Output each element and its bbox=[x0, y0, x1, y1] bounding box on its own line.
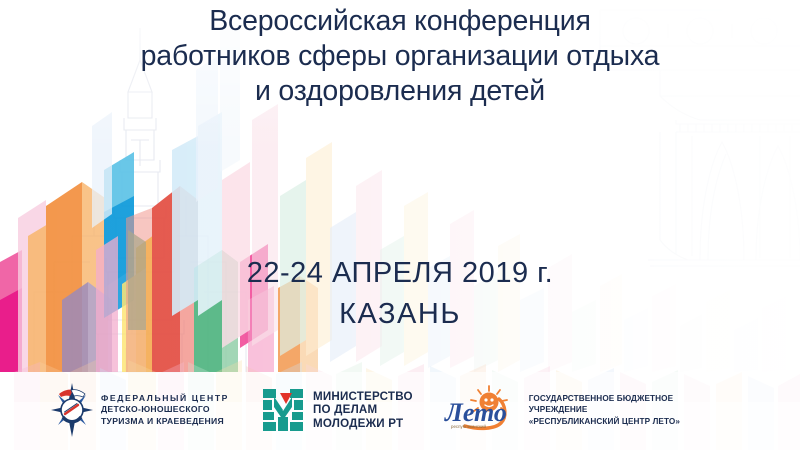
partner-logos: ФЕДЕРАЛЬНЫЙ ЦЕНТР ДЕТСКО-ЮНОШЕСКОГО ТУРИ… bbox=[0, 378, 800, 442]
logo-federal-center-text: ФЕДЕРАЛЬНЫЙ ЦЕНТР ДЕТСКО-ЮНОШЕСКОГО ТУРИ… bbox=[101, 393, 229, 428]
logo-min-line-3: МОЛОДЕЖИ РТ bbox=[313, 417, 413, 431]
logo-federal-center: ФЕДЕРАЛЬНЫЙ ЦЕНТР ДЕТСКО-ЮНОШЕСКОГО ТУРИ… bbox=[50, 382, 229, 438]
logo-fc-line-3: ТУРИЗМА И КРАЕВЕДЕНИЯ bbox=[101, 416, 229, 428]
logo-ministry-text: МИНИСТЕРСТВО ПО ДЕЛАМ МОЛОДЕЖИ РТ bbox=[313, 390, 413, 431]
conference-poster: Всероссийская конференция работников сфе… bbox=[0, 0, 800, 450]
logo-leto-text: ГОСУДАРСТВЕННОЕ БЮДЖЕТНОЕ УЧРЕЖДЕНИЕ «РЕ… bbox=[529, 393, 680, 428]
leto-sun-icon: Лето республиканский bbox=[443, 385, 521, 435]
logo-fc-line-2: ДЕТСКО-ЮНОШЕСКОГО bbox=[101, 404, 229, 416]
compass-rose-icon bbox=[50, 382, 94, 438]
logo-leto-center: Лето республиканский ГОСУДАРСТВЕННОЕ БЮД… bbox=[443, 385, 680, 435]
logo-min-line-2: ПО ДЕЛАМ bbox=[313, 403, 413, 417]
logo-ministry-youth: МИНИСТЕРСТВО ПО ДЕЛАМ МОЛОДЕЖИ РТ bbox=[261, 387, 413, 433]
m-monogram-icon bbox=[261, 387, 305, 433]
svg-text:Лето: Лето bbox=[444, 398, 507, 427]
logo-min-line-1: МИНИСТЕРСТВО bbox=[313, 390, 413, 404]
svg-text:республиканский: республиканский bbox=[451, 424, 486, 429]
logo-leto-line-2: УЧРЕЖДЕНИЕ bbox=[529, 404, 680, 416]
logo-leto-line-3: «РЕСПУБЛИКАНСКИЙ ЦЕНТР ЛЕТО» bbox=[529, 416, 680, 428]
logo-fc-line-1: ФЕДЕРАЛЬНЫЙ ЦЕНТР bbox=[101, 393, 229, 405]
logo-leto-line-1: ГОСУДАРСТВЕННОЕ БЮДЖЕТНОЕ bbox=[529, 393, 680, 405]
